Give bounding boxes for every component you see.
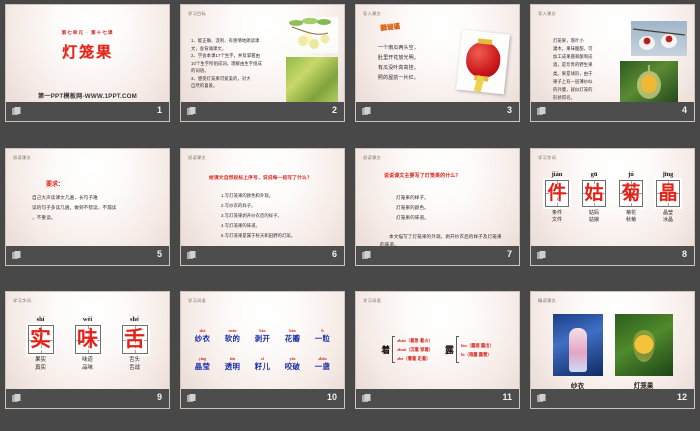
slide-6-answers: 1.写灯笼果的颜色和外观。 2.写纱衣的样子。 3.写灯笼果剥开纱衣后的样子。 …	[221, 191, 331, 241]
slide-6-bar: 6	[181, 246, 344, 265]
slide-3[interactable]: 导入课文 猜谜语 一个南瓜两头空， 肚里开花放光明。 有瓜没叶高高挂， 照的屋前…	[355, 4, 520, 122]
objective-line: 的词语。	[191, 67, 276, 75]
slide-11-page-number: 11	[502, 392, 512, 402]
pinyin: wèi	[73, 316, 103, 323]
word: 姑妈	[580, 210, 608, 217]
answer-item: 1.写灯笼果的颜色和外观。	[221, 191, 331, 201]
slide-2-bar: 2	[181, 102, 344, 121]
word: 纱衣	[191, 333, 214, 344]
word: 文件	[543, 217, 571, 224]
slide-7-bar: 7	[356, 246, 519, 265]
pinyin: jiàn	[543, 171, 571, 178]
slide-11-bar: 11	[356, 389, 519, 408]
pinyin: gū	[580, 171, 608, 178]
slide-2[interactable]: 学习目标 1、能正确、流利、有感情地朗读课 文，会背诵课文。 2、学会本课17个…	[180, 4, 345, 122]
polyphone-character: 露	[445, 343, 454, 356]
page-stack-icon	[12, 394, 21, 403]
slide-6-question: 给课文自然段标上序号，说说每一段写了什么？	[209, 175, 321, 182]
word: 晶莹	[191, 361, 214, 372]
word: 花瓣	[281, 333, 304, 344]
vocabulary-item: zǐ籽儿	[251, 356, 274, 372]
word: 舌战	[120, 365, 150, 373]
word: 真实	[26, 365, 56, 373]
slide-8-bar: 8	[531, 246, 694, 265]
slide-12-bar: 12	[531, 389, 694, 408]
slide-11[interactable]: 学习词语 着 zháo（着急 着火） zhuó（沉着 穿着） zhe（看着 走着…	[355, 291, 520, 409]
slide-7[interactable]: 初读课文 说说课文主要写了灯笼果的什么？ 灯笼果的样子。 灯笼果的颜色。 灯笼果…	[355, 148, 520, 266]
polyphone-group: 露 lòu（露面 露出） lù（雨露 露营）	[445, 336, 494, 363]
picture-item: 纱衣	[553, 314, 603, 390]
slide-5-section-tag: 初读课文	[13, 155, 31, 161]
slide-12-page-number: 12	[677, 392, 687, 402]
slide-3-section-tag: 导入课文	[363, 11, 381, 17]
pinyin: shí	[26, 316, 56, 323]
brace-bracket	[456, 336, 459, 363]
vocabulary-item: lì一粒	[311, 328, 334, 344]
reading-row: lòu（露面 露出）	[461, 341, 494, 350]
word: 软的	[221, 333, 244, 344]
word: 菊花	[617, 210, 645, 217]
slide-1-footer: 第一PPT模板网-WWW.1PPT.COM	[6, 91, 169, 100]
word: 剥开	[251, 333, 274, 344]
slide-cell-9[interactable]: 学习字词 shí 实 果实 真实 wèi 味 味道 品味	[0, 287, 175, 431]
description-line: 灯笼果，落叶小	[553, 37, 601, 45]
brace-bracket	[392, 336, 395, 363]
polyphone-character: 着	[381, 343, 390, 356]
slide-cell-4[interactable]: 导入课文 灯笼果，落叶小 灌木，果味酸甜，可 加工成果酱和酿制成 酒，是珍贵的野…	[525, 0, 700, 144]
word: 晶莹	[654, 210, 682, 217]
description-line: 加工成果酱和酿制成	[553, 53, 601, 61]
word: 咬破	[281, 361, 304, 372]
slide-2-objectives: 1、能正确、流利、有感情地朗读课 文，会背诵课文。 2、学会本课17个生字，并及…	[191, 37, 276, 90]
character-card: jiàn 件 条件 文件	[543, 171, 571, 225]
slide-cell-12[interactable]: 精读课文 纱衣 灯笼果 12	[525, 287, 700, 431]
pinyin: shé	[120, 316, 150, 323]
slide-1-title: 灯笼果	[6, 41, 169, 62]
slide-8-section-tag: 学习字词	[538, 155, 556, 161]
slide-8[interactable]: 学习字词 jiàn 件 条件 文件 gū 姑 姑妈 姑娘	[530, 148, 695, 266]
slide-cell-6[interactable]: 初读课文 给课文自然段标上序号，说说每一段写了什么？ 1.写灯笼果的颜色和外观。…	[175, 144, 350, 288]
page-stack-icon	[12, 107, 21, 116]
vocabulary-item: ruǎn软的	[221, 328, 244, 344]
fairy-figure	[569, 328, 587, 372]
tianzige-box: 味	[75, 325, 101, 354]
character-card: jīng 晶 晶莹 冰晶	[654, 171, 682, 225]
description-line: 果子上有一层薄纱似	[553, 78, 601, 86]
gooseberry-branch-image	[286, 17, 338, 53]
objective-line: 1、能正确、流利、有感情地朗读课	[191, 37, 276, 45]
slide-10[interactable]: 学习词语 shā纱衣 ruǎn软的 bāo剥开 bàn花瓣 lì一粒 yíng晶…	[180, 291, 345, 409]
word: 果实	[26, 357, 56, 365]
slide-7-page-number: 7	[507, 249, 512, 259]
character-card: shé 舌 舌头 舌战	[120, 316, 150, 373]
page-stack-icon	[187, 394, 196, 403]
word: 味道	[73, 357, 103, 365]
slide-7-question: 说说课文主要写了灯笼果的什么？	[384, 173, 479, 181]
slide-9-page-number: 9	[157, 392, 162, 402]
riddle-line: 照的屋前一片红。	[378, 73, 448, 83]
answer-item: 灯笼果的样子。	[396, 193, 496, 203]
tianzige-box: 晶	[656, 180, 680, 207]
slide-3-riddle: 一个南瓜两头空， 肚里开花放光明。 有瓜没叶高高挂， 照的屋前一片红。	[378, 43, 448, 83]
objective-line: 文，会背诵课文。	[191, 45, 276, 53]
pinyin: jīng	[654, 171, 682, 178]
examples: （着急 着火）	[406, 338, 433, 343]
slide-12-picture-row: 纱衣 灯笼果	[531, 314, 694, 390]
slide-6[interactable]: 初读课文 给课文自然段标上序号，说说每一段写了什么？ 1.写灯笼果的颜色和外观。…	[180, 148, 345, 266]
word: 透明	[221, 361, 244, 372]
slide-10-section-tag: 学习词语	[188, 298, 206, 304]
slide-cell-11[interactable]: 学习词语 着 zháo（着急 着火） zhuó（沉着 穿着） zhe（看着 走着…	[350, 287, 525, 431]
answer-item: 2.写纱衣的样子。	[221, 201, 331, 211]
character-card: wèi 味 味道 品味	[73, 316, 103, 373]
word-examples: 菊花 秋菊	[617, 210, 645, 225]
objective-line: 10个生字所组成词，理解由生字组成	[191, 60, 276, 68]
vocabulary-row-2: yíng晶莹 tòu透明 zǐ籽儿 yǎo咬破 zhǎn一盏	[181, 356, 344, 372]
vocabulary-item: yíng晶莹	[191, 356, 214, 372]
slide-12[interactable]: 精读课文 纱衣 灯笼果 12	[530, 291, 695, 409]
word-examples: 舌头 舌战	[120, 357, 150, 373]
tianzige-box: 菊	[619, 180, 643, 207]
page-stack-icon	[362, 251, 371, 260]
tianzige-box: 姑	[582, 180, 606, 207]
gooseberry-bush-photo	[286, 57, 338, 103]
word-examples: 味道 品味	[73, 357, 103, 373]
character-glyph: 实	[29, 326, 53, 353]
word: 一粒	[311, 333, 334, 344]
slide-4-page-number: 4	[682, 105, 687, 115]
objective-line: 自然的喜爱。	[191, 82, 276, 90]
slide-9[interactable]: 学习字词 shí 实 果实 真实 wèi 味 味道 品味	[5, 291, 170, 409]
tianzige-box: 件	[545, 180, 569, 207]
word-examples: 晶莹 冰晶	[654, 210, 682, 225]
objective-line: 2、学会本课17个生字，并及掌握由	[191, 52, 276, 60]
character-glyph: 舌	[123, 326, 147, 353]
reading-row: zháo（着急 着火）	[397, 336, 433, 345]
page-stack-icon	[362, 107, 371, 116]
word: 舌头	[120, 357, 150, 365]
picture-item: 灯笼果	[615, 314, 673, 390]
character-glyph: 味	[76, 326, 100, 353]
riddle-label: 猜谜语	[380, 20, 400, 32]
description-line: 灌木，果味酸甜，可	[553, 45, 601, 53]
requirement-line: ，不重读。	[32, 213, 152, 223]
slide-1[interactable]: 第七单元 · 第十七课 灯笼果 第一PPT模板网-WWW.1PPT.COM 1	[5, 4, 170, 122]
slide-10-page-number: 10	[327, 392, 337, 402]
slide-2-section-tag: 学习目标	[188, 11, 206, 17]
word: 品味	[73, 365, 103, 373]
slide-3-page-number: 3	[507, 105, 512, 115]
polyphone-group: 着 zháo（着急 着火） zhuó（沉着 穿着） zhe（看着 走着）	[381, 336, 433, 363]
slide-5-bar: 5	[6, 246, 169, 265]
slide-12-section-tag: 精读课文	[538, 298, 556, 304]
slide-9-character-cards: shí 实 果实 真实 wèi 味 味道 品味 shé	[6, 316, 169, 373]
word-examples: 条件 文件	[543, 210, 571, 225]
requirement-line: 读的句子多读几遍，做到不错读，不漏读	[32, 203, 152, 213]
reading-row: zhuó（沉着 穿着）	[397, 345, 433, 354]
requirement-line: 自己大声读课文几遍，长句子难	[32, 193, 152, 203]
slide-10-bar: 10	[181, 389, 344, 408]
tianzige-box: 实	[28, 325, 54, 354]
word: 姑娘	[580, 217, 608, 224]
slide-6-page-number: 6	[332, 249, 337, 259]
answer-item: 5.写灯笼果是属于秋天和田野的灯笼。	[221, 231, 331, 241]
reading-row: zhe（看着 走着）	[397, 354, 433, 363]
character-glyph: 菊	[620, 181, 642, 206]
fruit-husk	[633, 330, 655, 362]
reading-row: lù（雨露 露营）	[461, 350, 494, 359]
slide-4[interactable]: 导入课文 灯笼果，落叶小 灌木，果味酸甜，可 加工成果酱和酿制成 酒，是珍贵的野…	[530, 4, 695, 122]
slide-5[interactable]: 初读课文 要求： 自己大声读课文几遍，长句子难 读的句子多读几遍，做到不错读，不…	[5, 148, 170, 266]
slide-7-answers: 灯笼果的样子。 灯笼果的颜色。 灯笼果的味道。	[396, 193, 496, 223]
slide-cell-3[interactable]: 导入课文 猜谜语 一个南瓜两头空， 肚里开花放光明。 有瓜没叶高高挂， 照的屋前…	[350, 0, 525, 144]
slide-11-section-tag: 学习词语	[363, 298, 381, 304]
lantern-fruit-image	[615, 314, 673, 376]
page-stack-icon	[362, 394, 371, 403]
page-stack-icon	[187, 107, 196, 116]
examples: （看着 走着）	[403, 356, 430, 361]
slide-1-bar: 1	[6, 102, 169, 121]
word: 一盏	[311, 361, 334, 372]
slide-1-page-number: 1	[157, 105, 162, 115]
answer-item: 灯笼果的味道。	[396, 213, 496, 223]
slide-4-section-tag: 导入课文	[538, 11, 556, 17]
slide-cell-1[interactable]: 第七单元 · 第十七课 灯笼果 第一PPT模板网-WWW.1PPT.COM 1	[0, 0, 175, 144]
riddle-line: 肚里开花放光明。	[378, 53, 448, 63]
examples: （雨露 露营）	[465, 352, 492, 357]
vocabulary-item: tòu透明	[221, 356, 244, 372]
examples: （沉着 穿着）	[406, 347, 433, 352]
winter-cherry-photo	[631, 21, 687, 56]
slide-9-bar: 9	[6, 389, 169, 408]
slide-2-page-number: 2	[332, 105, 337, 115]
word-examples: 姑妈 姑娘	[580, 210, 608, 225]
slide-cell-5[interactable]: 初读课文 要求： 自己大声读课文几遍，长句子难 读的句子多读几遍，做到不错读，不…	[0, 144, 175, 288]
lantern-fruit-photo	[620, 61, 678, 103]
requirement-label: 要求：	[46, 179, 64, 188]
word: 秋菊	[617, 217, 645, 224]
slide-6-section-tag: 初读课文	[188, 155, 206, 161]
description-line: 的外膜，就似灯笼的	[553, 86, 601, 94]
word: 籽儿	[251, 361, 274, 372]
examples: （露面 露出）	[467, 343, 494, 348]
objective-line: 3、感受灯笼果可爱美的，对大	[191, 75, 276, 83]
polyphone-readings: lòu（露面 露出） lù（雨露 露营）	[461, 341, 494, 359]
slide-5-page-number: 5	[157, 249, 162, 259]
polyphone-readings: zháo（着急 着火） zhuó（沉着 穿着） zhe（看着 走着）	[397, 336, 433, 363]
slide-cell-7[interactable]: 初读课文 说说课文主要写了灯笼果的什么？ 灯笼果的样子。 灯笼果的颜色。 灯笼果…	[350, 144, 525, 288]
slide-4-description: 灯笼果，落叶小 灌木，果味酸甜，可 加工成果酱和酿制成 酒，是珍贵的野生果 类。…	[553, 37, 601, 102]
slide-8-character-cards: jiàn 件 条件 文件 gū 姑 姑妈 姑娘 jú	[531, 171, 694, 225]
pinyin: zháo	[397, 338, 406, 343]
vocabulary-item: shā纱衣	[191, 328, 214, 344]
slide-5-requirements: 自己大声读课文几遍，长句子难 读的句子多读几遍，做到不错读，不漏读 ，不重读。	[32, 193, 152, 223]
word: 冰晶	[654, 217, 682, 224]
answer-item: 4.写灯笼果的味道。	[221, 221, 331, 231]
description-line: 类。果是球形，由于	[553, 70, 601, 78]
word-examples: 果实 真实	[26, 357, 56, 373]
character-glyph: 件	[546, 181, 568, 206]
slide-1-subtitle: 第七单元 · 第十七课	[6, 30, 169, 36]
riddle-line: 一个南瓜两头空，	[378, 43, 448, 53]
word: 条件	[543, 210, 571, 217]
red-lantern-icon	[464, 40, 502, 79]
riddle-line: 有瓜没叶高高挂，	[378, 63, 448, 73]
vocabulary-item: bàn花瓣	[281, 328, 304, 344]
character-glyph: 晶	[657, 181, 679, 206]
polyphone-chart: 着 zháo（着急 着火） zhuó（沉着 穿着） zhe（看着 走着） 露 l…	[356, 336, 519, 363]
answer-item: 3.写灯笼果剥开纱衣后的样子。	[221, 211, 331, 221]
lantern-photo-card	[456, 30, 510, 95]
slide-cell-10[interactable]: 学习词语 shā纱衣 ruǎn软的 bāo剥开 bàn花瓣 lì一粒 yíng晶…	[175, 287, 350, 431]
vocabulary-item: yǎo咬破	[281, 356, 304, 372]
page-stack-icon	[12, 251, 21, 260]
pinyin: jú	[617, 171, 645, 178]
page-stack-icon	[537, 107, 546, 116]
slide-9-section-tag: 学习字词	[13, 298, 31, 304]
vocabulary-row-1: shā纱衣 ruǎn软的 bāo剥开 bàn花瓣 lì一粒	[181, 328, 344, 344]
character-card: gū 姑 姑妈 姑娘	[580, 171, 608, 225]
slide-8-page-number: 8	[682, 249, 687, 259]
page-stack-icon	[537, 394, 546, 403]
page-stack-icon	[537, 251, 546, 260]
vocabulary-item: zhǎn一盏	[311, 356, 334, 372]
slide-cell-2[interactable]: 学习目标 1、能正确、流利、有感情地朗读课 文，会背诵课文。 2、学会本课17个…	[175, 0, 350, 144]
slide-4-bar: 4	[531, 102, 694, 121]
page-stack-icon	[187, 251, 196, 260]
fairy-in-gauze-robe-image	[553, 314, 603, 376]
slide-3-bar: 3	[356, 102, 519, 121]
pinyin: zhuó	[397, 347, 406, 352]
description-line: 酒，是珍贵的野生果	[553, 61, 601, 69]
answer-item: 灯笼果的颜色。	[396, 203, 496, 213]
character-card: shí 实 果实 真实	[26, 316, 56, 373]
tianzige-box: 舌	[122, 325, 148, 354]
character-card: jú 菊 菊花 秋菊	[617, 171, 645, 225]
vocabulary-item: bāo剥开	[251, 328, 274, 344]
character-glyph: 姑	[583, 181, 605, 206]
slide-thumbnail-grid: 第七单元 · 第十七课 灯笼果 第一PPT模板网-WWW.1PPT.COM 1 …	[0, 0, 700, 431]
slide-7-section-tag: 初读课文	[363, 155, 381, 161]
slide-cell-8[interactable]: 学习字词 jiàn 件 条件 文件 gū 姑 姑妈 姑娘	[525, 144, 700, 288]
